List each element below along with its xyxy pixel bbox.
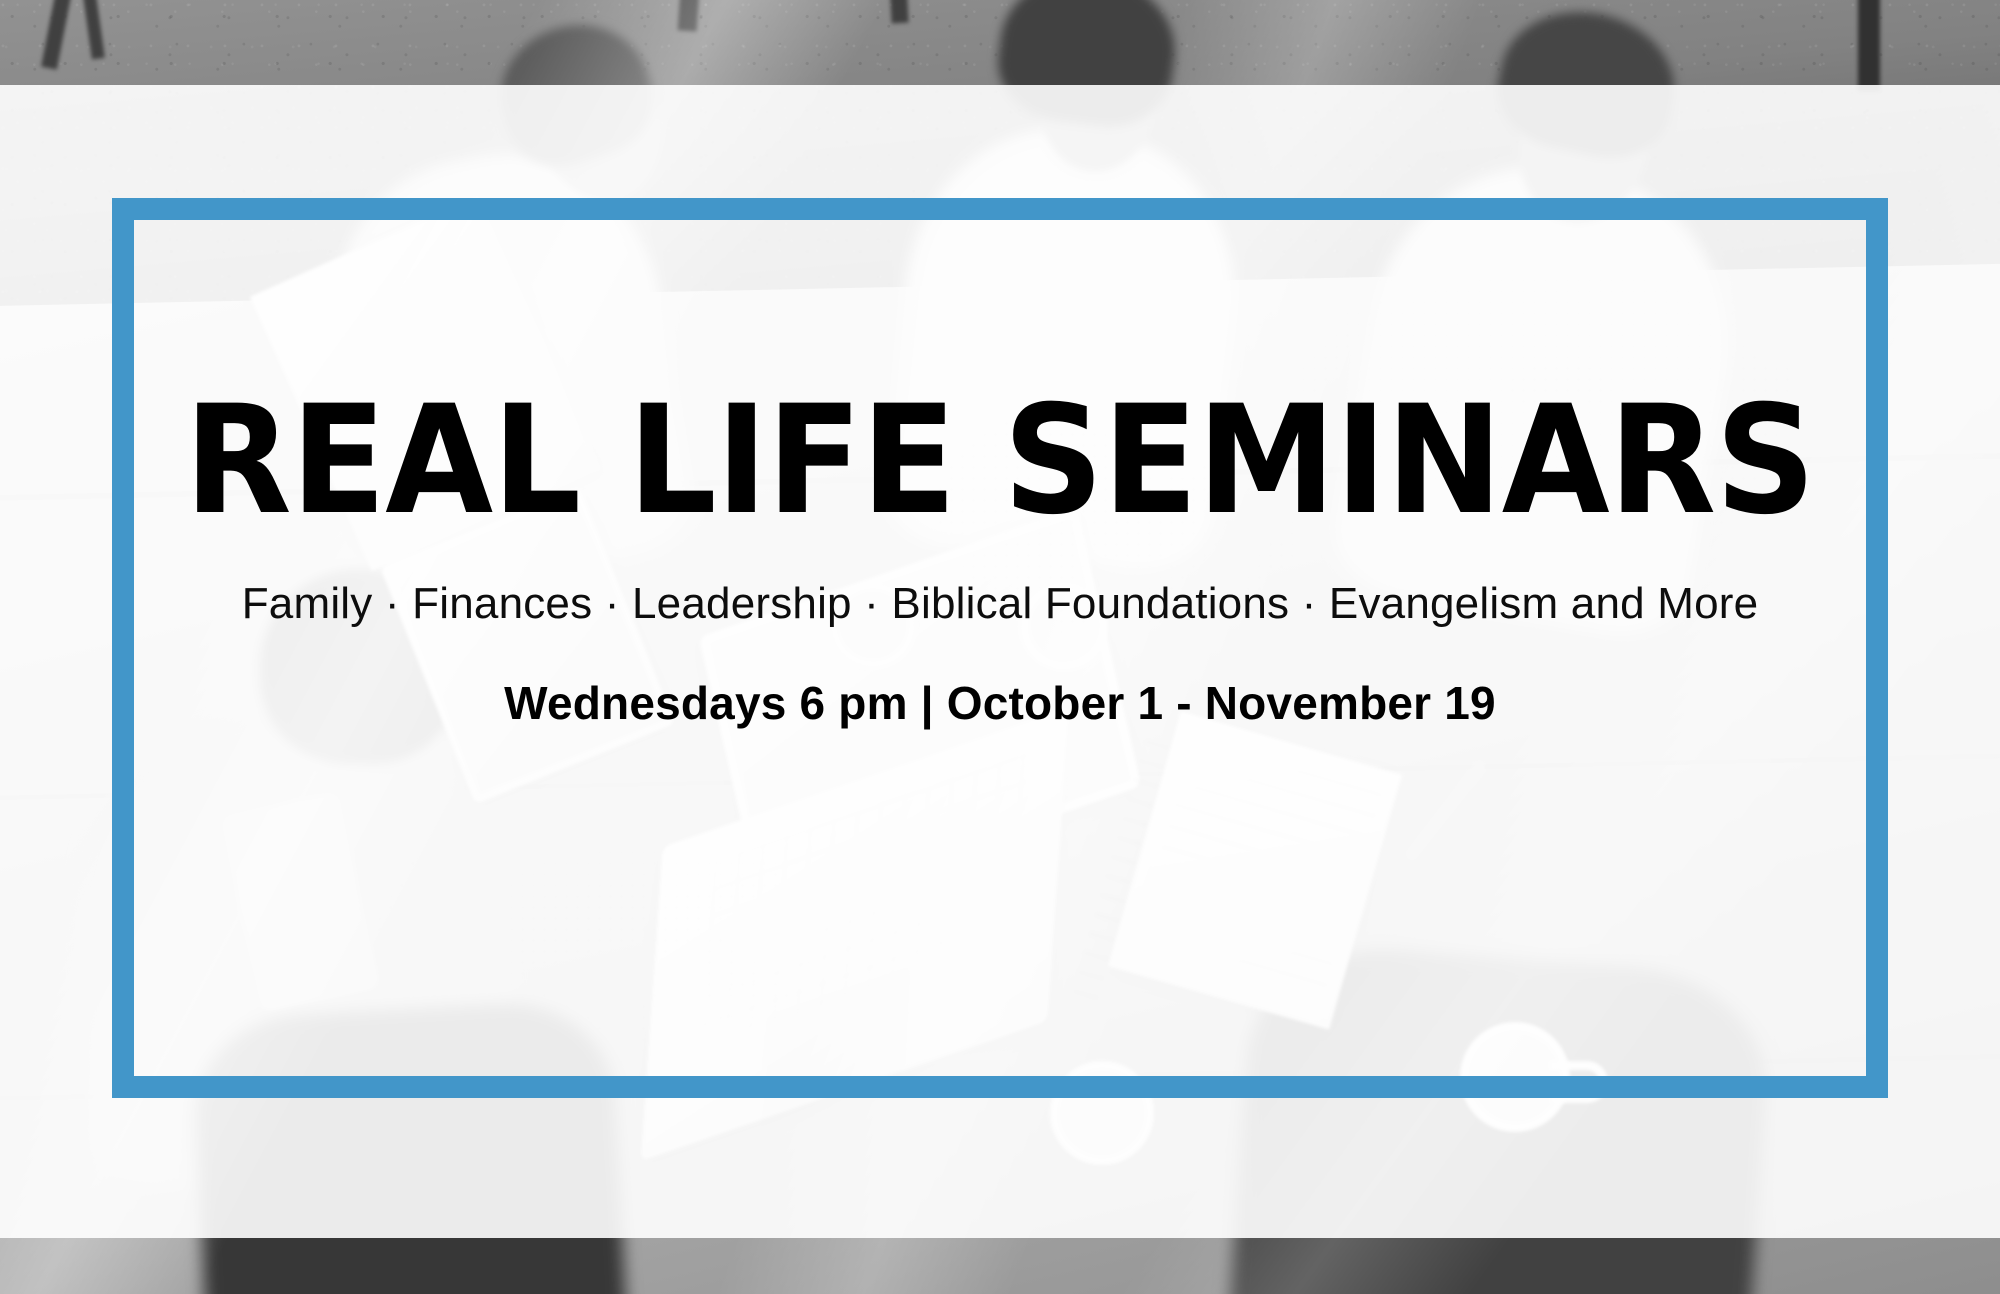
topics-subtitle: Family · Finances · Leadership · Biblica… <box>242 580 1759 628</box>
poster-content: REAL LIFE SEMINARS Family · Finances · L… <box>112 198 1888 1098</box>
schedule-dateline: Wednesdays 6 pm | October 1 - November 1… <box>504 678 1496 729</box>
page-title: REAL LIFE SEMINARS <box>185 386 1815 536</box>
seminar-promo-poster: REAL LIFE SEMINARS Family · Finances · L… <box>0 0 2000 1294</box>
